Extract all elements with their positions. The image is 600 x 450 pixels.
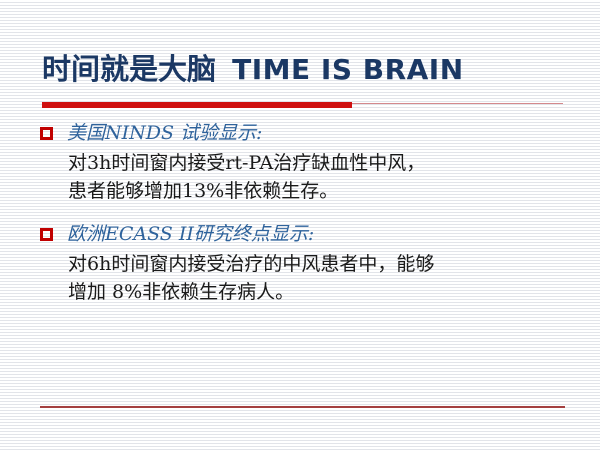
page-title: 时间就是大脑 TIME IS BRAIN (42, 52, 572, 87)
page-title-chinese: 时间就是大脑 (42, 52, 216, 86)
title-divider-thick-bar (42, 102, 352, 108)
bullet-paragraph-1-line-1: 对3h时间窗内接受rt-PA治疗缺血性中风， (68, 152, 425, 174)
page-title-english: TIME IS BRAIN (232, 53, 464, 86)
bullet-group-1: 美国NINDS 试验显示: 对3h时间窗内接受rt-PA治疗缺血性中风，患者能够… (40, 120, 580, 205)
presentation-slide: 时间就是大脑 TIME IS BRAIN 美国NINDS 试验显示: 对3h时间… (0, 0, 600, 450)
bullet-heading-row-2: 欧洲ECASS II研究终点显示: (40, 221, 580, 248)
title-divider (42, 101, 563, 108)
bottom-divider (40, 406, 565, 408)
bullet-group-2: 欧洲ECASS II研究终点显示: 对6h时间窗内接受治疗的中风患者中，能够增加… (40, 221, 580, 306)
square-bullet-icon (40, 228, 53, 241)
bullet-paragraph-1-line-2: 患者能够增加13%非依赖生存。 (68, 180, 338, 202)
square-bullet-icon (40, 127, 53, 140)
slide-content: 美国NINDS 试验显示: 对3h时间窗内接受rt-PA治疗缺血性中风，患者能够… (40, 120, 580, 310)
content-spacer (40, 209, 580, 221)
bullet-heading-2: 欧洲ECASS II研究终点显示: (67, 221, 314, 248)
bullet-paragraph-2-line-2: 增加 8%非依赖生存病人。 (68, 281, 294, 303)
bullet-paragraph-2-line-1: 对6h时间窗内接受治疗的中风患者中，能够 (68, 253, 434, 275)
bullet-paragraph-1: 对3h时间窗内接受rt-PA治疗缺血性中风，患者能够增加13%非依赖生存。 (68, 149, 538, 205)
bullet-heading-1: 美国NINDS 试验显示: (67, 120, 262, 147)
title-block: 时间就是大脑 TIME IS BRAIN (42, 52, 572, 87)
bullet-paragraph-2: 对6h时间窗内接受治疗的中风患者中，能够增加 8%非依赖生存病人。 (68, 250, 538, 306)
bullet-heading-row-1: 美国NINDS 试验显示: (40, 120, 580, 147)
